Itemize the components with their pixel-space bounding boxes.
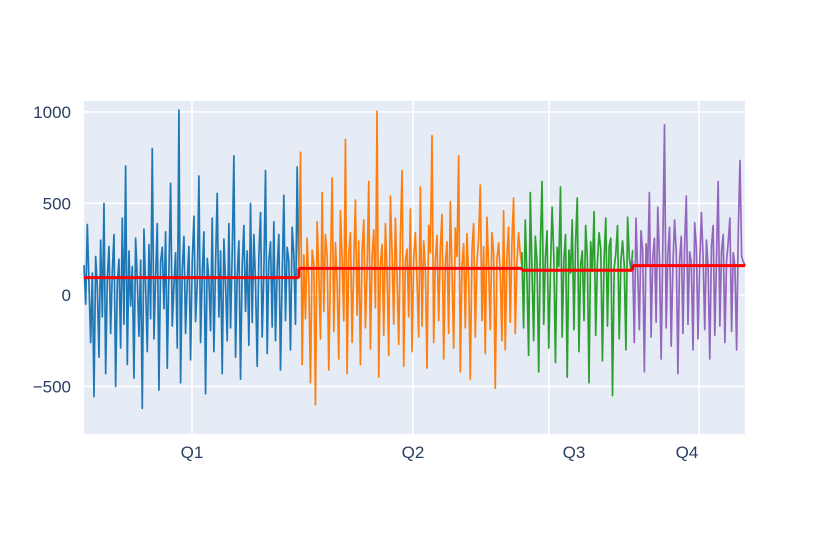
y-tick-label: −500 <box>33 377 71 396</box>
y-tick-label: 500 <box>43 194 71 213</box>
chart-canvas: 10005000−500 Q1Q2Q3Q4 <box>0 0 813 541</box>
x-tick-label: Q3 <box>563 443 586 462</box>
y-tick-label: 0 <box>62 286 71 305</box>
x-tick-label: Q4 <box>676 443 699 462</box>
chart-figure: 10005000−500 Q1Q2Q3Q4 <box>0 0 813 541</box>
y-tick-label: 1000 <box>33 103 71 122</box>
x-tick-label: Q1 <box>181 443 204 462</box>
x-tick-label: Q2 <box>402 443 425 462</box>
